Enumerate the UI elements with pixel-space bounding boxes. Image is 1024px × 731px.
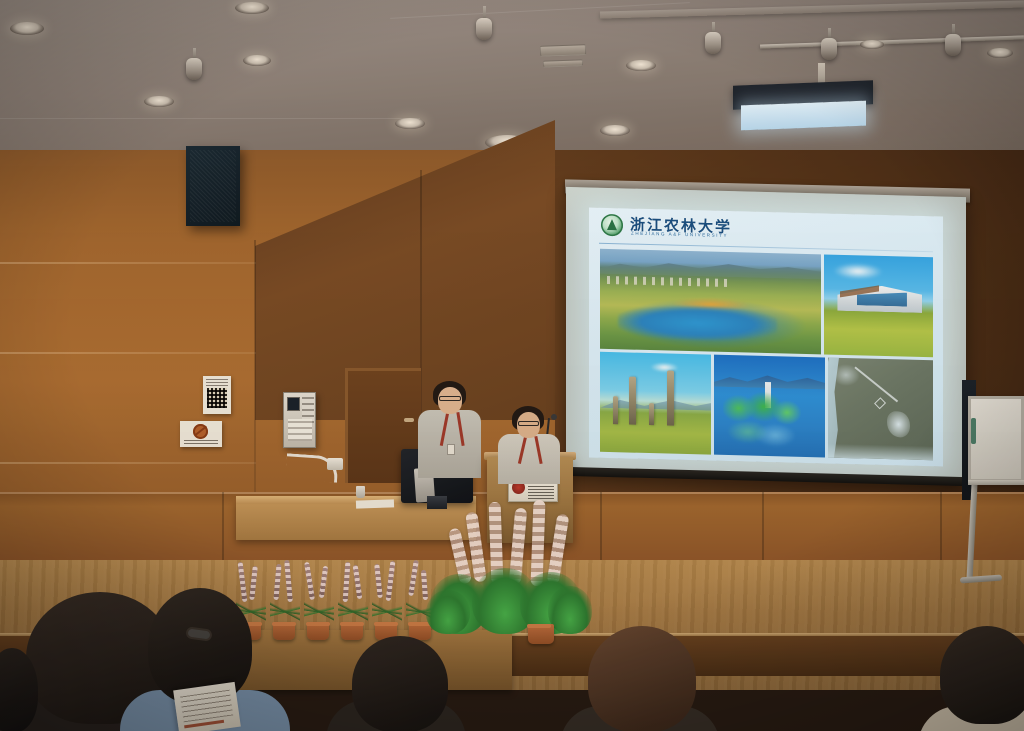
no-food-drink-sign [180,421,222,447]
slide-photo-modern-building [824,254,933,357]
ceiling-vent [543,59,583,67]
slide-photo-campus-lake [714,355,825,458]
orchid-pot-row [232,548,444,640]
downlight-icon [144,96,174,107]
spotlight-icon [186,58,202,80]
spotlight-icon [705,32,721,54]
glasses-icon [439,396,461,401]
projected-slide: 浙江农林大学 ZHEJIANG A&F UNIVERSITY [589,208,943,467]
downlight-icon [395,118,425,129]
slide-photo-stone-pillars [600,352,711,455]
projection-screen: 浙江农林大学 ZHEJIANG A&F UNIVERSITY [566,187,966,485]
orchid-plant [302,548,336,640]
av-panel-screen [287,397,300,411]
qr-notice-sign [203,376,231,414]
downlight-icon [626,60,656,71]
spotlight-icon [476,18,492,40]
door-handle[interactable] [404,418,414,422]
wall-speaker-icon [186,146,240,226]
lecture-hall-photo: 浙江农林大学 ZHEJIANG A&F UNIVERSITY [0,0,1024,731]
floral-arrangement [424,498,594,646]
downlight-icon [987,48,1013,58]
slide-photo-grid [600,249,933,460]
qr-code-icon [207,388,227,408]
lighting-track [760,35,1024,48]
university-crest-icon [601,214,623,237]
fern-pot [528,624,554,644]
whiteboard-marker-tray [968,480,1024,485]
microphone-icon [551,414,557,420]
slide-photo-aerial-map [828,358,933,461]
orchid-plant [370,548,404,640]
orchid-plant [268,548,302,640]
av-panel-buttons[interactable] [288,419,312,441]
fern-foliage [426,590,470,634]
downlight-icon [600,125,630,136]
glasses-icon [518,421,539,426]
cup [356,486,365,498]
slide-institution-en: ZHEJIANG A&F UNIVERSITY [631,231,728,238]
downlight-icon [235,2,269,14]
ceiling-vent [540,44,586,57]
papers [356,499,394,508]
orchid-plant [336,548,370,640]
projector-light-panel [741,101,866,131]
downlight-icon [10,22,44,35]
name-badge [447,444,455,455]
slide-photo-campus-aerial [600,249,821,355]
downlight-icon [243,55,271,66]
slide-photo-row-bottom [600,352,933,460]
spotlight-icon [821,38,837,60]
downlight-icon [860,40,884,49]
program-booklet[interactable] [173,682,241,731]
av-control-panel[interactable] [283,392,316,448]
spotlight-icon [945,34,961,56]
fern-foliage [548,586,592,634]
whiteboard-marker[interactable] [971,418,976,444]
document-camera-head[interactable] [327,458,343,470]
mobile-whiteboard[interactable] [968,396,1024,482]
